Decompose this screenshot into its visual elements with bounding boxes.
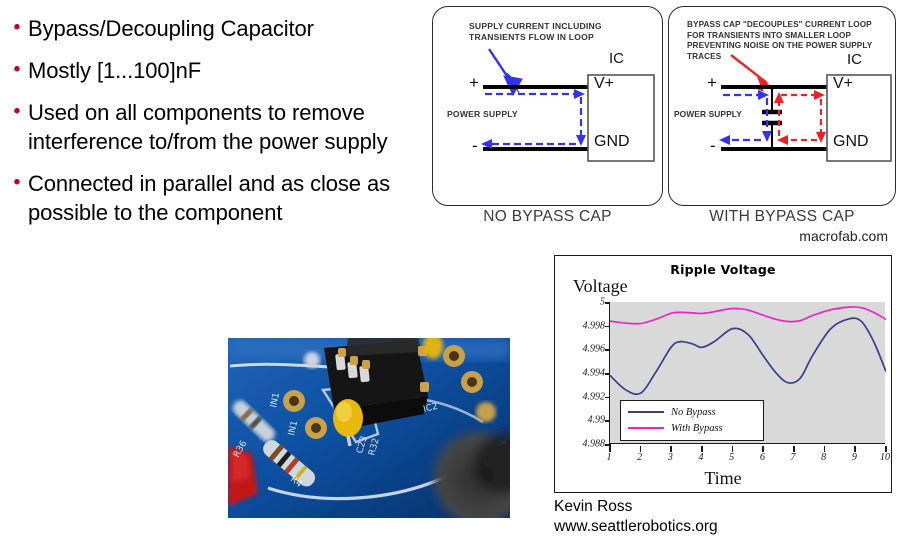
chart-x-tick-mark — [640, 446, 642, 452]
annotation-no-bypass: SUPPLY CURRENT INCLUDING TRANSIENTS FLOW… — [469, 21, 602, 43]
chart-plot-area: No BypassWith Bypass — [609, 302, 885, 444]
chart-x-tick-mark — [854, 446, 856, 452]
plus-terminal-label: + — [469, 73, 479, 93]
chart-x-tick-mark — [885, 446, 887, 452]
plus-terminal-label: + — [707, 73, 717, 93]
credit-block: Kevin Ross www.seattlerobotics.org — [554, 497, 718, 537]
bullet-marker-icon: • — [6, 169, 28, 197]
chart-y-tick-label: 4.99 — [588, 415, 606, 426]
chart-x-tick-mark — [762, 446, 764, 452]
bullet-item: • Mostly [1...100]nF — [6, 56, 436, 85]
chart-legend-swatch — [628, 427, 664, 429]
pcb-photo: IN1 IN1 C23 R32 IC2 R36 R4 — [228, 338, 510, 518]
circuit-panel-no-bypass: SUPPLY CURRENT INCLUDING TRANSIENTS FLOW… — [432, 6, 663, 206]
chart-x-tick-mark — [670, 446, 672, 452]
bypass-cap-comparison-figure: SUPPLY CURRENT INCLUDING TRANSIENTS FLOW… — [430, 6, 900, 251]
chart-x-tick-label: 9 — [852, 452, 857, 463]
chart-legend-swatch — [628, 411, 664, 413]
chart-x-tick-label: 8 — [821, 452, 826, 463]
pcb-photo-illustration: IN1 IN1 C23 R32 IC2 R36 R4 — [228, 338, 510, 518]
vplus-label: V+ — [833, 75, 853, 93]
chart-series-line — [610, 307, 886, 324]
power-supply-label: POWER SUPPLY — [674, 109, 742, 119]
vplus-label: V+ — [594, 75, 614, 93]
chart-y-axis-label: Voltage — [573, 276, 628, 297]
figure-source-attribution: macrofab.com — [799, 228, 888, 244]
annotation-line-3: PREVENTING NOISE ON THE POWER SUPPLY TRA… — [687, 41, 895, 62]
chart-x-tick-mark — [793, 446, 795, 452]
ic-label: IC — [609, 50, 624, 67]
chart-y-tick-label: 4.998 — [583, 320, 606, 331]
chart-y-tick-label: 4.996 — [583, 344, 606, 355]
chart-y-tick-label: 4.994 — [583, 368, 606, 379]
chart-x-tick-label: 7 — [791, 452, 796, 463]
chart-series-line — [610, 318, 886, 394]
circuit-panel-with-bypass: BYPASS CAP "DECOUPLES" CURRENT LOOP FOR … — [668, 6, 896, 206]
bullet-item: • Bypass/Decoupling Capacitor — [6, 14, 436, 43]
bullet-list: • Bypass/Decoupling Capacitor • Mostly [… — [6, 14, 436, 240]
chart-legend-item: With Bypass — [625, 420, 759, 436]
chart-x-tick-label: 2 — [637, 452, 642, 463]
bullet-marker-icon: • — [6, 56, 28, 84]
chart-x-tick-label: 3 — [668, 452, 673, 463]
bullet-text: Used on all components to remove interfe… — [28, 98, 436, 156]
annotation-line-2: FOR TRANSIENTS INTO SMALLER LOOP — [687, 31, 895, 42]
chart-legend-label: No Bypass — [671, 407, 716, 418]
annotation-line-1: BYPASS CAP "DECOUPLES" CURRENT LOOP — [687, 20, 895, 31]
caption-with-bypass-cap: WITH BYPASS CAP — [668, 208, 896, 226]
caption-no-bypass-cap: NO BYPASS CAP — [432, 208, 663, 226]
chart-x-tick-mark — [732, 446, 734, 452]
chart-x-axis-label: Time — [555, 468, 891, 489]
bullet-marker-icon: • — [6, 14, 28, 42]
chart-x-tick-label: 10 — [880, 452, 890, 463]
chart-x-tick-mark — [701, 446, 703, 452]
chart-x-tick-mark — [824, 446, 826, 452]
chart-x-tick-label: 6 — [760, 452, 765, 463]
chart-y-tick-label: 4.988 — [583, 439, 606, 450]
chart-y-axis-ticks: 54.9984.9964.9944.9924.994.988 — [557, 302, 605, 444]
gnd-label: GND — [833, 133, 869, 151]
minus-terminal-label: - — [472, 136, 478, 156]
chart-y-tick-label: 4.992 — [583, 391, 606, 402]
annotation-with-bypass: BYPASS CAP "DECOUPLES" CURRENT LOOP FOR … — [687, 20, 895, 62]
minus-terminal-label: - — [710, 136, 716, 156]
chart-title: Ripple Voltage — [555, 262, 891, 277]
chart-x-tick-label: 1 — [607, 452, 612, 463]
chart-legend: No BypassWith Bypass — [620, 400, 764, 441]
power-supply-label: POWER SUPPLY — [447, 109, 518, 119]
credit-author: Kevin Ross — [554, 497, 718, 517]
chart-x-tick-label: 4 — [699, 452, 704, 463]
annotation-line-1: SUPPLY CURRENT INCLUDING — [469, 21, 602, 32]
chart-legend-label: With Bypass — [671, 423, 723, 434]
chart-legend-item: No Bypass — [625, 404, 759, 420]
ic-label: IC — [847, 51, 862, 68]
gnd-label: GND — [594, 133, 630, 151]
ripple-voltage-chart: Ripple Voltage Voltage 54.9984.9964.9944… — [554, 255, 892, 493]
chart-x-axis-ticks: 12345678910 — [609, 452, 885, 468]
annotation-line-2: TRANSIENTS FLOW IN LOOP — [469, 32, 602, 43]
bullet-item: • Connected in parallel and as close as … — [6, 169, 436, 227]
credit-website: www.seattlerobotics.org — [554, 517, 718, 537]
bullet-text: Connected in parallel and as close as po… — [28, 169, 436, 227]
chart-x-tick-label: 5 — [729, 452, 734, 463]
bullet-text: Mostly [1...100]nF — [28, 56, 436, 85]
bullet-text: Bypass/Decoupling Capacitor — [28, 14, 436, 43]
bullet-item: • Used on all components to remove inter… — [6, 98, 436, 156]
bullet-marker-icon: • — [6, 98, 28, 126]
chart-x-tick-mark — [609, 446, 611, 452]
